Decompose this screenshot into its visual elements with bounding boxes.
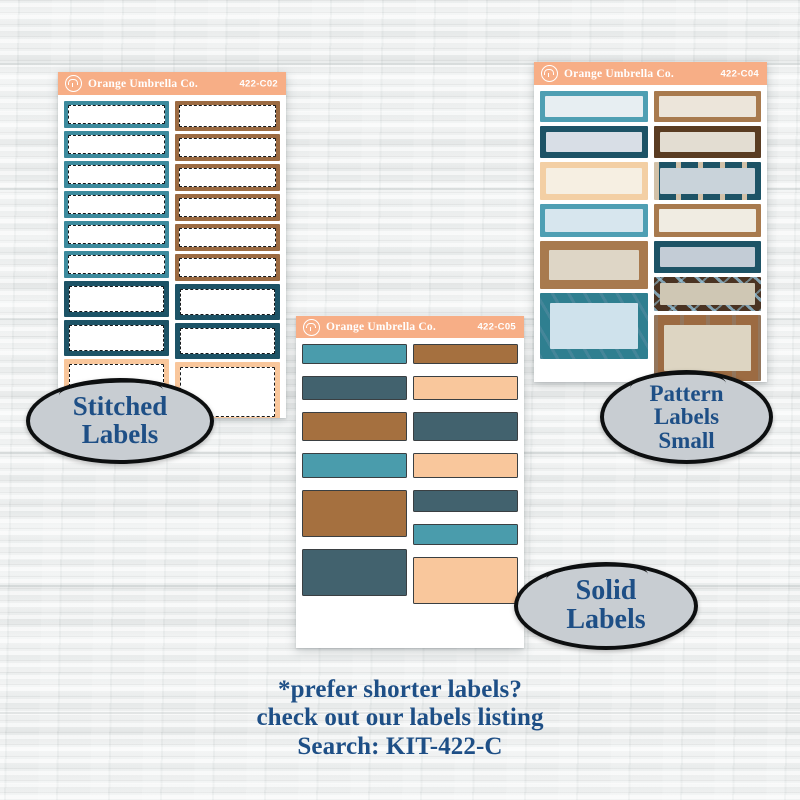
sticker-write-area <box>179 258 276 277</box>
sticker-label-pattern[interactable] <box>540 241 648 289</box>
callout-badge-stitched: Stitched Labels <box>26 378 214 464</box>
sticker-label-stitched[interactable] <box>64 320 169 356</box>
sticker-write-area <box>179 138 276 157</box>
sticker-label-stitched[interactable] <box>175 134 280 161</box>
sticker-label-solid[interactable] <box>413 376 518 400</box>
umbrella-circle-icon <box>303 319 320 336</box>
badge-line: Pattern <box>649 382 723 405</box>
badge-line: Labels <box>566 606 645 635</box>
sticker-label-solid[interactable] <box>413 557 518 604</box>
sticker-write-area <box>179 228 276 247</box>
sticker-write-area <box>68 225 165 244</box>
sticker-label-pattern[interactable] <box>540 91 648 122</box>
sticker-column-left <box>64 101 169 418</box>
sticker-label-stitched[interactable] <box>64 161 169 188</box>
sticker-label-stitched[interactable] <box>175 284 280 320</box>
sheet-code: 422-C02 <box>239 78 278 89</box>
sticker-write-area <box>68 105 165 124</box>
sheet-code: 422-C04 <box>720 68 759 79</box>
badge-line: Small <box>649 429 723 452</box>
badge-line: Solid <box>566 577 645 606</box>
sticker-write-area <box>180 328 275 354</box>
brand-name: Orange Umbrella Co. <box>564 68 674 80</box>
sticker-write-area <box>545 96 643 117</box>
sticker-label-stitched[interactable] <box>175 164 280 191</box>
sticker-label-solid[interactable] <box>413 490 518 512</box>
sticker-column-left <box>302 344 407 616</box>
sticker-label-solid[interactable] <box>302 549 407 596</box>
sticker-write-area <box>660 247 756 267</box>
sticker-write-area <box>550 303 638 349</box>
sticker-write-area <box>179 198 276 217</box>
callout-badge-solid: Solid Labels <box>514 562 698 650</box>
sticker-sheet-solid[interactable]: Orange Umbrella Co. 422-C05 <box>296 316 524 648</box>
sheet-header: Orange Umbrella Co. 422-C04 <box>534 62 767 85</box>
sticker-label-stitched[interactable] <box>64 221 169 248</box>
promo-line: *prefer shorter labels? <box>0 676 800 704</box>
sticker-label-pattern[interactable] <box>654 126 762 158</box>
sticker-grid <box>296 338 524 622</box>
sticker-label-stitched[interactable] <box>175 101 280 131</box>
umbrella-circle-icon <box>65 75 82 92</box>
sticker-write-area <box>545 209 643 232</box>
sticker-label-solid[interactable] <box>413 344 518 364</box>
sticker-label-solid[interactable] <box>413 412 518 441</box>
sticker-column-right <box>175 101 280 418</box>
sticker-write-area <box>549 250 639 280</box>
sticker-write-area <box>179 105 276 127</box>
sheet-code: 422-C05 <box>477 322 516 333</box>
sticker-sheet-pattern[interactable]: Orange Umbrella Co. 422-C04 <box>534 62 767 382</box>
sticker-grid <box>534 85 767 382</box>
sticker-column-right <box>413 344 518 616</box>
sticker-label-pattern[interactable] <box>654 241 762 273</box>
sheet-header: Orange Umbrella Co. 422-C02 <box>58 72 286 95</box>
callout-badge-pattern: Pattern Labels Small <box>600 370 773 464</box>
badge-line: Labels <box>73 421 168 449</box>
sticker-label-pattern[interactable] <box>654 204 762 237</box>
sheet-header: Orange Umbrella Co. 422-C05 <box>296 316 524 338</box>
sticker-write-area <box>69 286 164 312</box>
sticker-label-stitched[interactable] <box>64 281 169 317</box>
sticker-label-stitched[interactable] <box>64 191 169 218</box>
sticker-write-area <box>659 209 757 232</box>
sticker-label-stitched[interactable] <box>175 224 280 251</box>
sticker-label-solid[interactable] <box>302 344 407 364</box>
sticker-label-pattern[interactable] <box>540 204 648 237</box>
sticker-label-pattern[interactable] <box>540 162 648 200</box>
sticker-label-stitched[interactable] <box>175 254 280 281</box>
promo-text: *prefer shorter labels? check out our la… <box>0 676 800 761</box>
sticker-sheet-stitched[interactable]: Orange Umbrella Co. 422-C02 <box>58 72 286 418</box>
sticker-label-stitched[interactable] <box>175 194 280 221</box>
sticker-label-stitched[interactable] <box>64 251 169 278</box>
sticker-write-area <box>68 135 165 154</box>
sticker-write-area <box>179 168 276 187</box>
sticker-write-area <box>660 283 756 305</box>
sticker-label-solid[interactable] <box>302 490 407 537</box>
sticker-write-area <box>546 132 642 152</box>
sticker-label-solid[interactable] <box>413 524 518 545</box>
promo-line: Search: KIT-422-C <box>0 733 800 761</box>
sticker-write-area <box>68 165 165 184</box>
sticker-label-pattern[interactable] <box>540 126 648 158</box>
badge-line: Labels <box>649 405 723 428</box>
sticker-label-solid[interactable] <box>302 412 407 441</box>
sticker-label-solid[interactable] <box>302 453 407 478</box>
sticker-label-stitched[interactable] <box>64 131 169 158</box>
sticker-label-pattern[interactable] <box>654 277 762 311</box>
promo-line: check out our labels listing <box>0 704 800 732</box>
sticker-column-right <box>654 91 762 382</box>
sticker-column-left <box>540 91 648 382</box>
sticker-label-pattern[interactable] <box>540 293 648 359</box>
sticker-grid <box>58 95 286 418</box>
sticker-label-solid[interactable] <box>413 453 518 478</box>
sticker-write-area <box>180 289 275 315</box>
sticker-write-area <box>660 132 756 152</box>
sticker-write-area <box>68 255 165 274</box>
sticker-write-area <box>546 168 642 194</box>
sticker-write-area <box>68 195 165 214</box>
umbrella-circle-icon <box>541 65 558 82</box>
sticker-write-area <box>69 325 164 351</box>
sticker-label-solid[interactable] <box>302 376 407 400</box>
sticker-write-area <box>659 96 757 117</box>
badge-line: Stitched <box>73 393 168 421</box>
sticker-write-area <box>664 325 752 371</box>
sticker-label-pattern[interactable] <box>654 91 762 122</box>
sticker-label-pattern[interactable] <box>654 162 762 200</box>
brand-name: Orange Umbrella Co. <box>326 321 436 333</box>
sticker-write-area <box>660 168 756 194</box>
sticker-label-stitched[interactable] <box>64 101 169 128</box>
sticker-label-stitched[interactable] <box>175 323 280 359</box>
brand-name: Orange Umbrella Co. <box>88 78 198 90</box>
